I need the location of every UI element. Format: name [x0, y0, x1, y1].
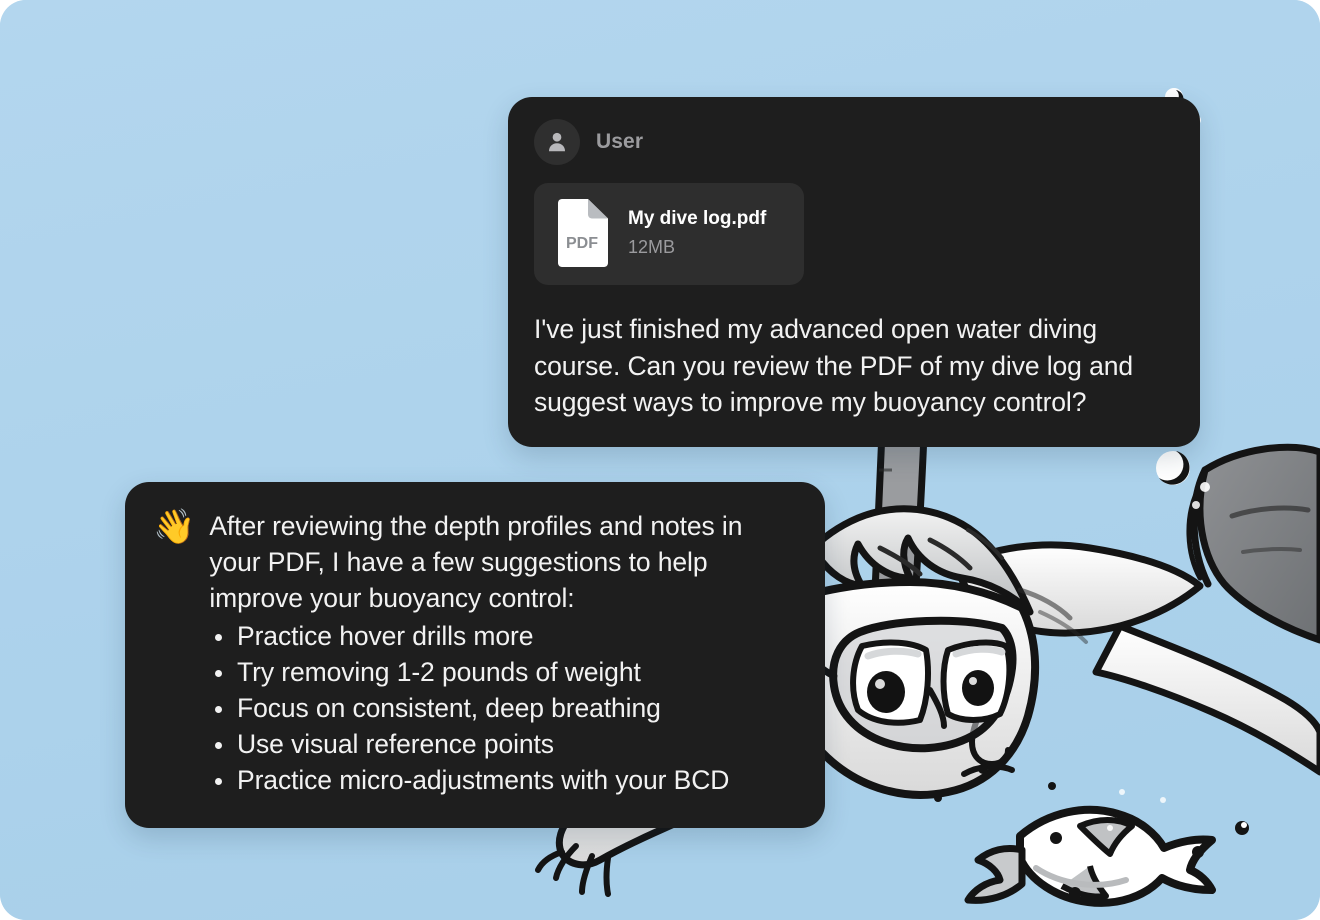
screen-canvas: User PDF My dive log.pdf 12MB I've just … [0, 0, 1320, 920]
user-name-label: User [596, 130, 643, 154]
assistant-intro-row: 👋 After reviewing the depth profiles and… [153, 508, 797, 616]
list-item: Practice micro-adjustments with your BCD [215, 762, 797, 798]
user-message-header: User [534, 119, 1174, 165]
user-message-text: I've just finished my advanced open wate… [534, 311, 1174, 421]
pdf-attachment-card[interactable]: PDF My dive log.pdf 12MB [534, 183, 804, 285]
fish-illustration [968, 810, 1212, 903]
svg-text:PDF: PDF [566, 235, 598, 252]
suggestion-list: Practice hover drills more Try removing … [153, 618, 797, 798]
list-item: Try removing 1-2 pounds of weight [215, 654, 797, 690]
list-item: Use visual reference points [215, 726, 797, 762]
attachment-file-name: My dive log.pdf [628, 208, 766, 231]
list-item: Focus on consistent, deep breathing [215, 690, 797, 726]
attachment-file-size: 12MB [628, 235, 766, 260]
user-message-bubble: User PDF My dive log.pdf 12MB I've just … [508, 97, 1200, 447]
list-item: Practice hover drills more [215, 618, 797, 654]
attachment-meta: My dive log.pdf 12MB [628, 208, 766, 260]
pdf-file-icon: PDF [552, 199, 608, 269]
assistant-intro-text: After reviewing the depth profiles and n… [209, 508, 797, 616]
assistant-message-bubble: 👋 After reviewing the depth profiles and… [125, 482, 825, 828]
waving-hand-icon: 👋 [153, 510, 195, 546]
person-avatar-icon [534, 119, 580, 165]
